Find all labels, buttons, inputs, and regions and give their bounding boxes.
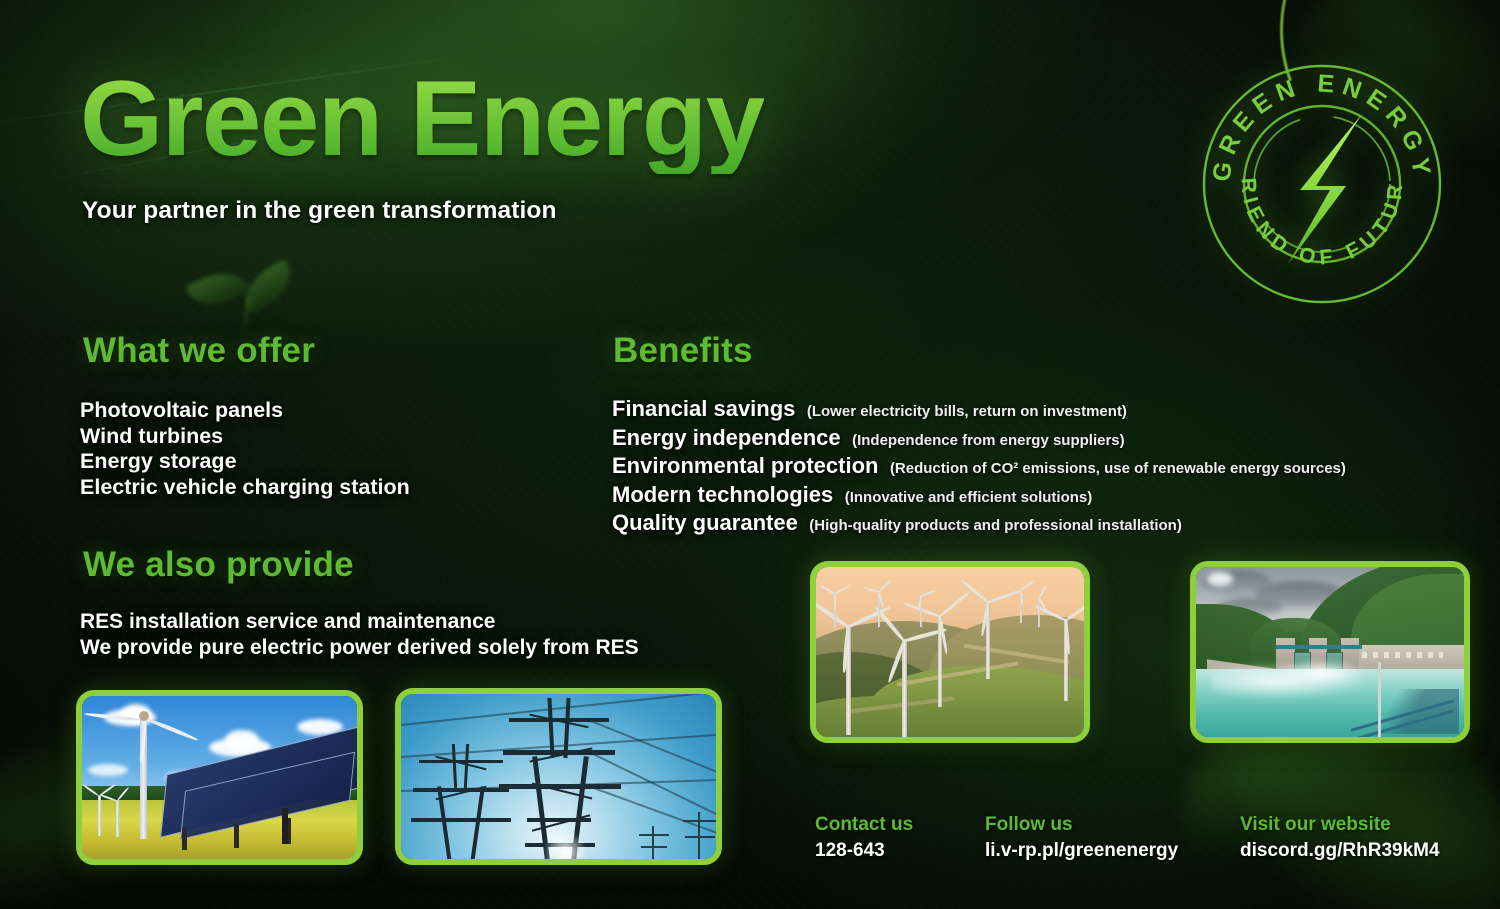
hydroelectric-dam-photo xyxy=(1190,561,1470,743)
benefit-note: (Innovative and efficient solutions) xyxy=(845,489,1093,506)
page-title: Green Energy xyxy=(80,62,764,174)
benefits-heading: Benefits xyxy=(613,331,753,371)
contact-value[interactable]: li.v-rp.pl/greenenergy xyxy=(985,838,1178,864)
offer-item: Wind turbines xyxy=(80,424,410,450)
contact-block-phone: Contact us 128-643 xyxy=(815,812,913,864)
benefit-note: (Lower electricity bills, return on inve… xyxy=(807,403,1127,420)
wind-farm-photo xyxy=(810,561,1090,743)
contact-value[interactable]: 128-643 xyxy=(815,838,913,864)
offer-item: Photovoltaic panels xyxy=(80,398,410,424)
benefit-title: Energy independence xyxy=(612,425,841,450)
brand-logo: GREEN ENERGY FRIEND OF FUTURE xyxy=(1196,58,1448,310)
offer-item: Electric vehicle charging station xyxy=(80,475,410,501)
contact-label: Visit our website xyxy=(1240,812,1440,838)
poster-canvas: Green Energy Your partner in the green t… xyxy=(0,0,1500,909)
provide-item: RES installation service and maintenance xyxy=(80,609,639,635)
offer-heading: What we offer xyxy=(83,331,315,371)
benefits-list: Financial savings (Lower electricity bil… xyxy=(612,396,1346,539)
benefit-title: Financial savings xyxy=(612,396,795,421)
benefit-item: Environmental protection (Reduction of C… xyxy=(612,453,1346,482)
benefit-note: (Independence from energy suppliers) xyxy=(852,432,1125,449)
contact-label: Contact us xyxy=(815,812,913,838)
benefit-item: Quality guarantee (High-quality products… xyxy=(612,510,1346,539)
benefit-title: Environmental protection xyxy=(612,453,878,478)
benefit-item: Financial savings (Lower electricity bil… xyxy=(612,396,1346,425)
benefit-title: Quality guarantee xyxy=(612,510,798,535)
benefit-note: (Reduction of CO² emissions, use of rene… xyxy=(890,460,1346,477)
benefit-title: Modern technologies xyxy=(612,482,833,507)
contact-block-social: Follow us li.v-rp.pl/greenenergy xyxy=(985,812,1178,864)
offer-list: Photovoltaic panels Wind turbines Energy… xyxy=(80,398,410,500)
contact-block-website: Visit our website discord.gg/RhR39kM4 xyxy=(1240,812,1440,864)
solar-panel-field-photo xyxy=(76,690,363,865)
provide-item: We provide pure electric power derived s… xyxy=(80,635,639,661)
benefit-note: (High-quality products and professional … xyxy=(809,517,1182,534)
benefit-item: Energy independence (Independence from e… xyxy=(612,425,1346,454)
power-pylons-photo xyxy=(395,688,722,865)
page-subtitle: Your partner in the green transformation xyxy=(82,197,557,225)
contact-label: Follow us xyxy=(985,812,1178,838)
benefit-item: Modern technologies (Innovative and effi… xyxy=(612,482,1346,511)
offer-item: Energy storage xyxy=(80,449,410,475)
provide-heading: We also provide xyxy=(83,545,354,585)
provide-list: RES installation service and maintenance… xyxy=(80,609,639,661)
contact-value[interactable]: discord.gg/RhR39kM4 xyxy=(1240,838,1440,864)
